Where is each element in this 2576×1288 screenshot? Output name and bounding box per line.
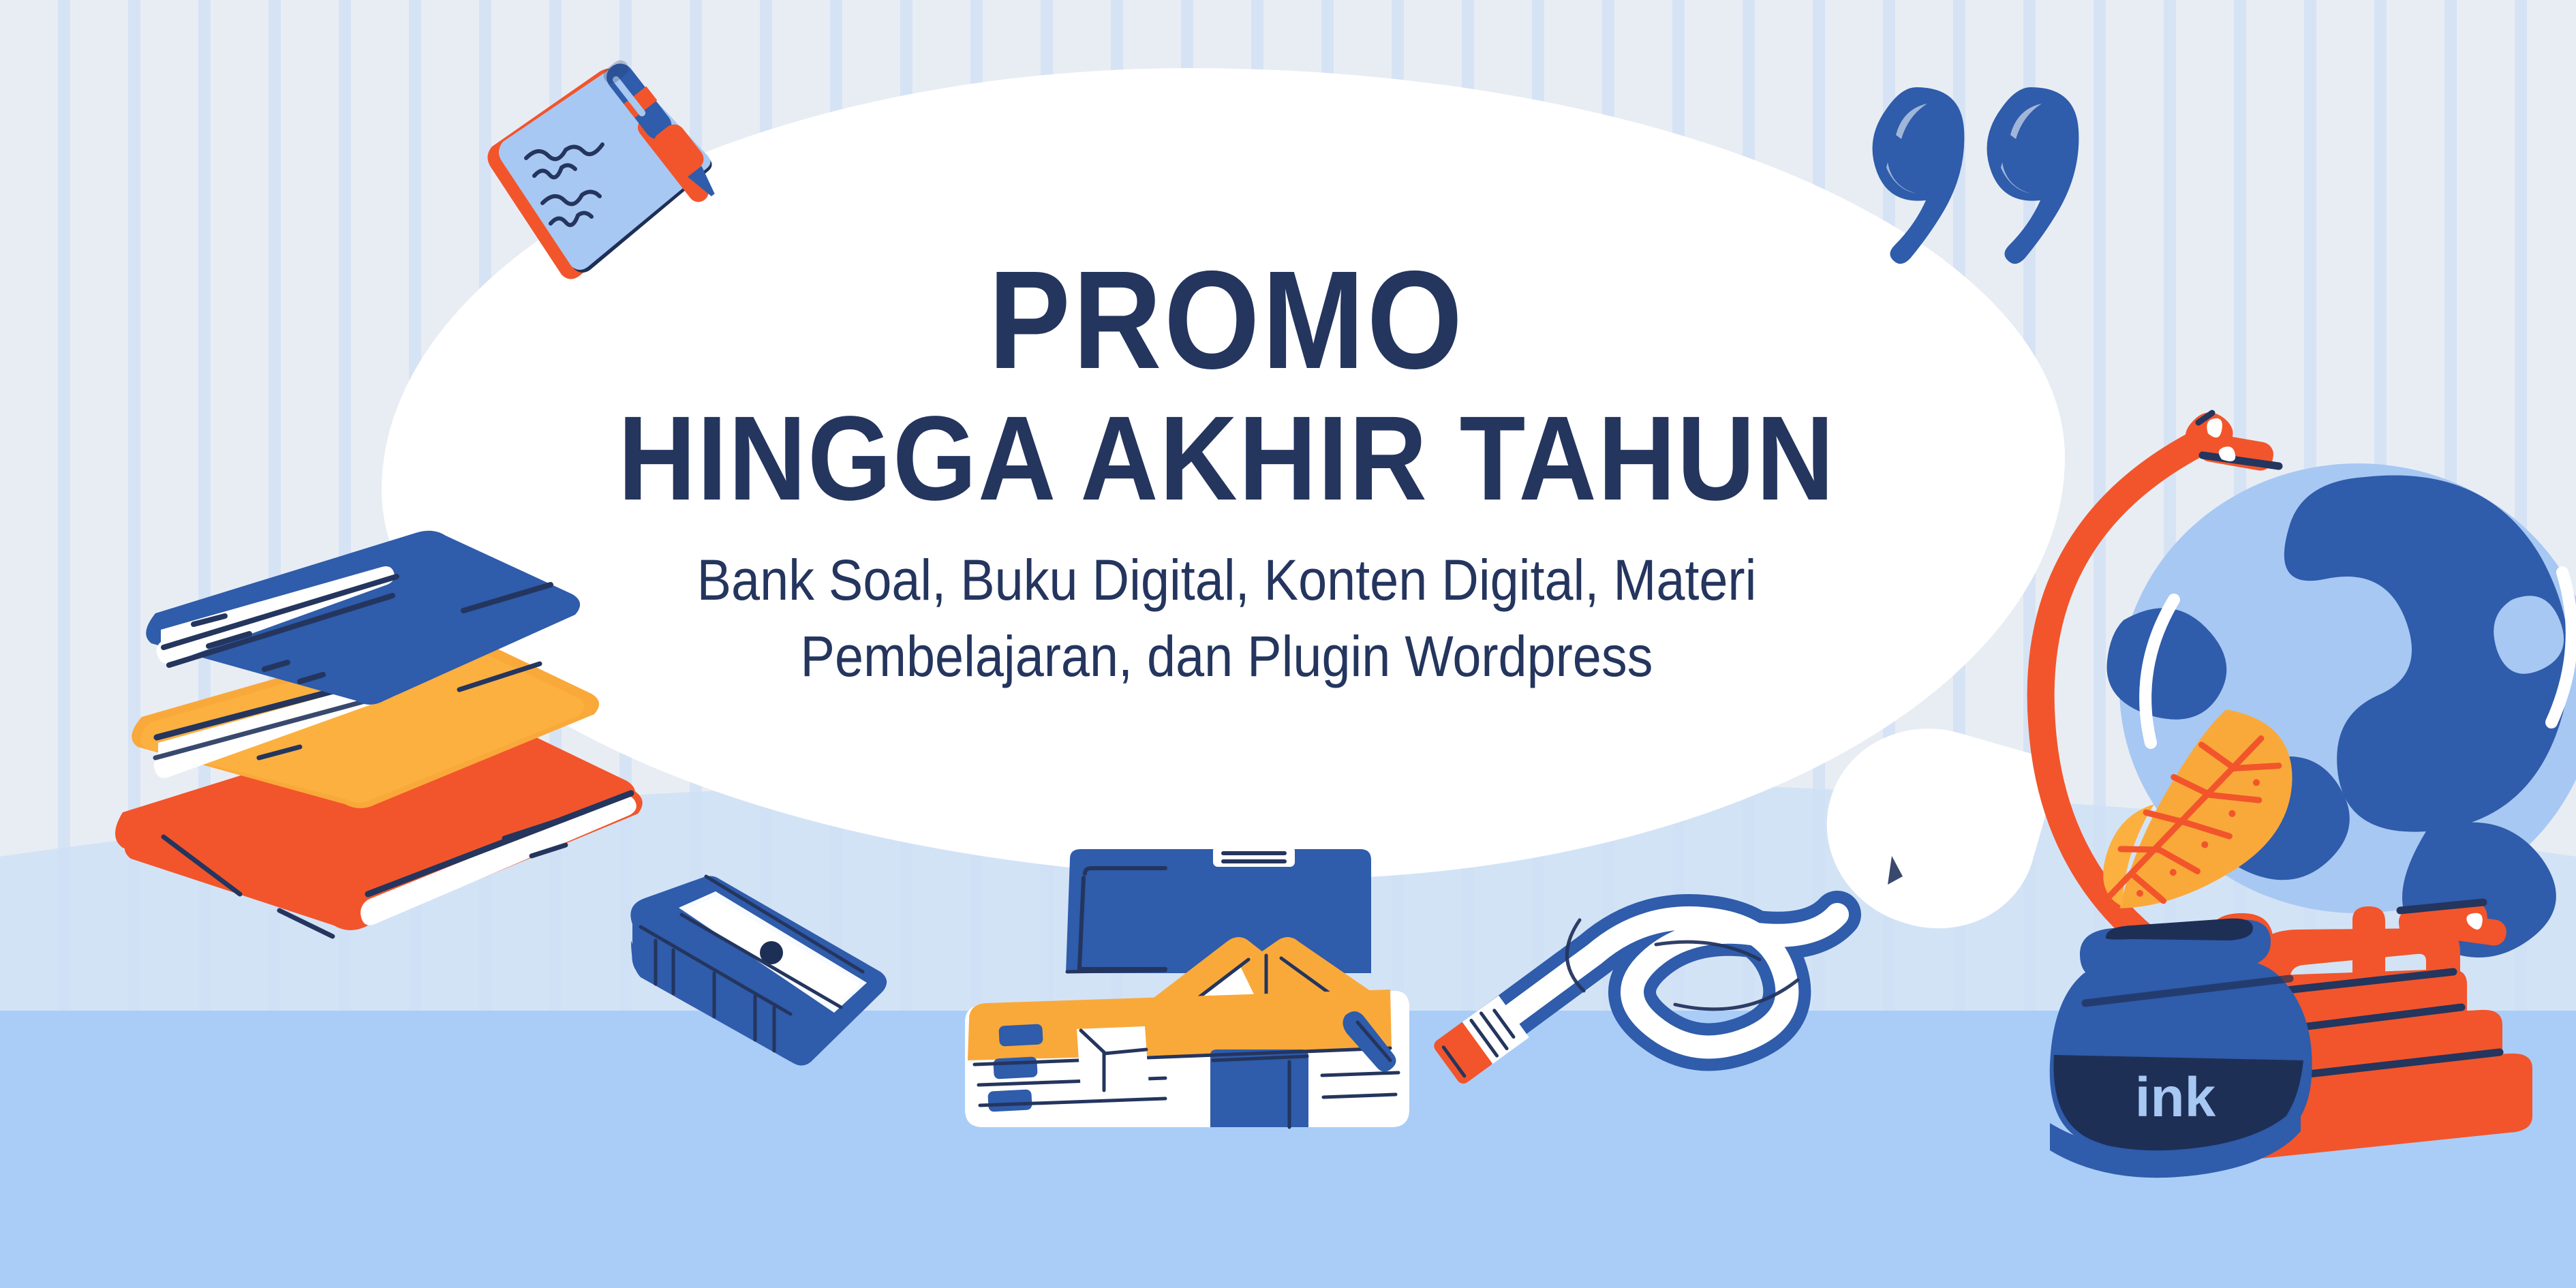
promo-banner: ink PROMO HINGGA AKHIR TAHUN Bank Soal, … xyxy=(0,0,2576,1288)
globe-top-pivot xyxy=(2186,412,2279,472)
open-pencil-case-illustration xyxy=(940,825,1431,1145)
subtitle-line-1: Bank Soal, Buku Digital, Konten Digital,… xyxy=(589,542,1865,619)
subtitle-line-2: Pembelajaran, dan Plugin Wordpress xyxy=(589,618,1865,695)
notepad-with-pen-illustration xyxy=(477,41,763,286)
pencil-sharpener-illustration xyxy=(613,859,900,1090)
ink-label: ink xyxy=(2135,1067,2216,1129)
knotted-pencil-illustration xyxy=(1424,784,1929,1070)
feather-quill-icon xyxy=(2088,685,2316,954)
quotation-marks-icon xyxy=(1867,75,2092,273)
headline-block: PROMO HINGGA AKHIR TAHUN Bank Soal, Buku… xyxy=(518,252,1935,695)
headline-period: HINGGA AKHIR TAHUN xyxy=(589,399,1865,519)
headline-promo: PROMO xyxy=(603,252,1850,389)
ink-bottle-with-quill-illustration: ink xyxy=(2004,695,2385,1159)
